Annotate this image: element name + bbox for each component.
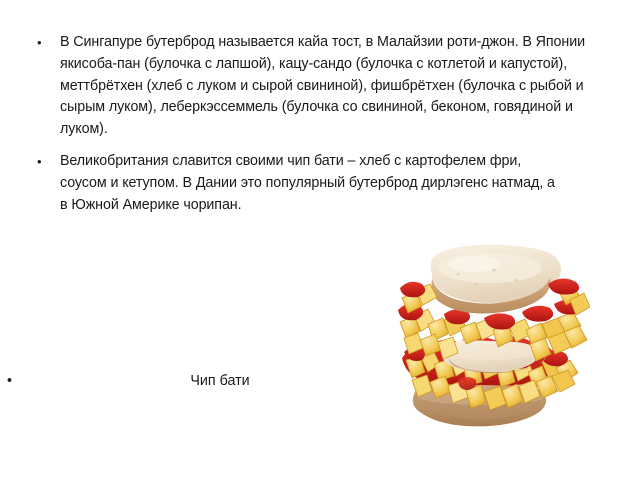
bullet-list: • В Сингапуре бутерброд называется кайа …: [30, 32, 610, 226]
chip-butty-photo: [398, 240, 590, 440]
list-item-text: В Сингапуре бутерброд называется кайа то…: [60, 34, 585, 137]
list-item-text: Великобритания славится своими чип бати …: [60, 153, 555, 213]
bullet-marker: •: [37, 32, 47, 54]
bread-top: [431, 244, 562, 313]
bullet-marker: •: [7, 370, 12, 392]
list-item: • В Сингапуре бутерброд называется кайа …: [30, 32, 608, 141]
caption-row: • Чип бати: [30, 370, 410, 392]
image-caption: Чип бати: [190, 373, 249, 389]
list-item: • Великобритания славится своими чип бат…: [30, 151, 560, 216]
slide-canvas: • В Сингапуре бутерброд называется кайа …: [0, 0, 640, 480]
bullet-marker: •: [37, 151, 47, 173]
